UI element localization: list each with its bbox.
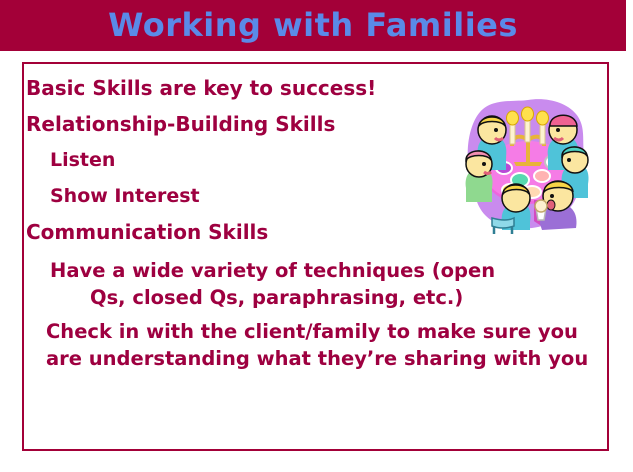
- family-dinner-table-clipart: [462, 96, 595, 236]
- bullet-techniques-line-2: Qs, closed Qs, paraphrasing, etc.): [90, 284, 590, 311]
- bullet-techniques: Have a wide variety of techniques (open …: [50, 257, 590, 311]
- bullet-check-in: Check in with the client/family to make …: [46, 318, 606, 372]
- clipart-person-3: [466, 151, 493, 202]
- bullet-techniques-line-1: Have a wide variety of techniques (open: [50, 259, 495, 282]
- slide-title-band: Working with Families: [0, 0, 626, 51]
- presentation-slide: Working with Families Basic Skills are k…: [0, 0, 633, 472]
- page-title: Working with Families: [0, 0, 626, 51]
